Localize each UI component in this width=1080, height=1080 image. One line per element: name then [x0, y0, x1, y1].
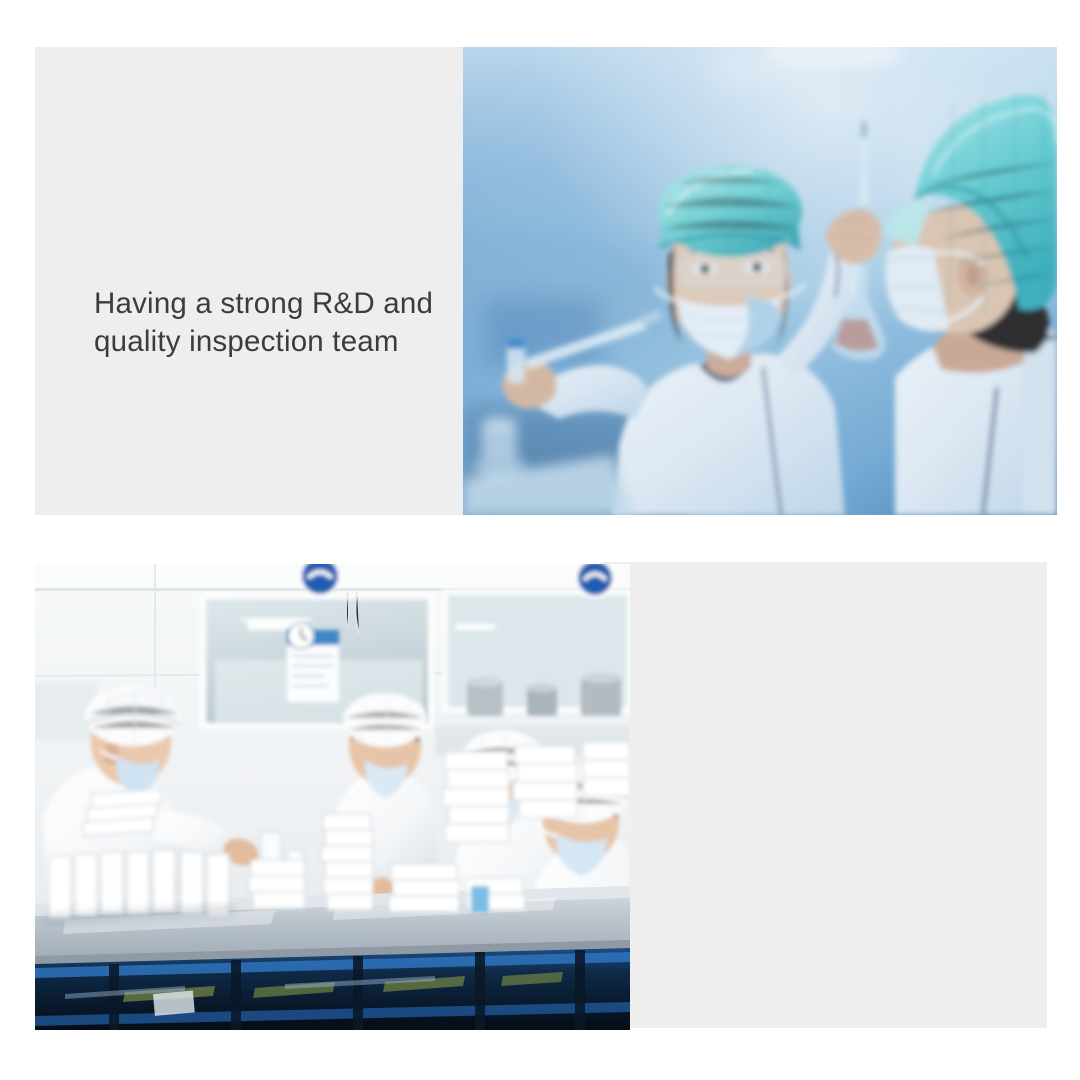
lab-technicians-illustration: [463, 47, 1057, 515]
caption-panel-top: Having a strong R&D and quality inspecti…: [35, 47, 467, 515]
wall-clock: [288, 623, 314, 649]
caption-panel-bottom: a warehouse distribution area a warehous…: [600, 562, 1047, 1028]
warehouse-packing-illustration: [35, 564, 630, 1030]
section-rnd-quality: Having a strong R&D and quality inspecti…: [0, 0, 1080, 540]
lab-technicians-photo: [463, 47, 1057, 515]
section-warehouse: a warehouse distribution area a warehous…: [0, 540, 1080, 1080]
caption-rnd-quality: Having a strong R&D and quality inspecti…: [94, 285, 494, 361]
warehouse-packing-photo: [35, 564, 630, 1030]
poster-canvas: Having a strong R&D and quality inspecti…: [0, 0, 1080, 1080]
